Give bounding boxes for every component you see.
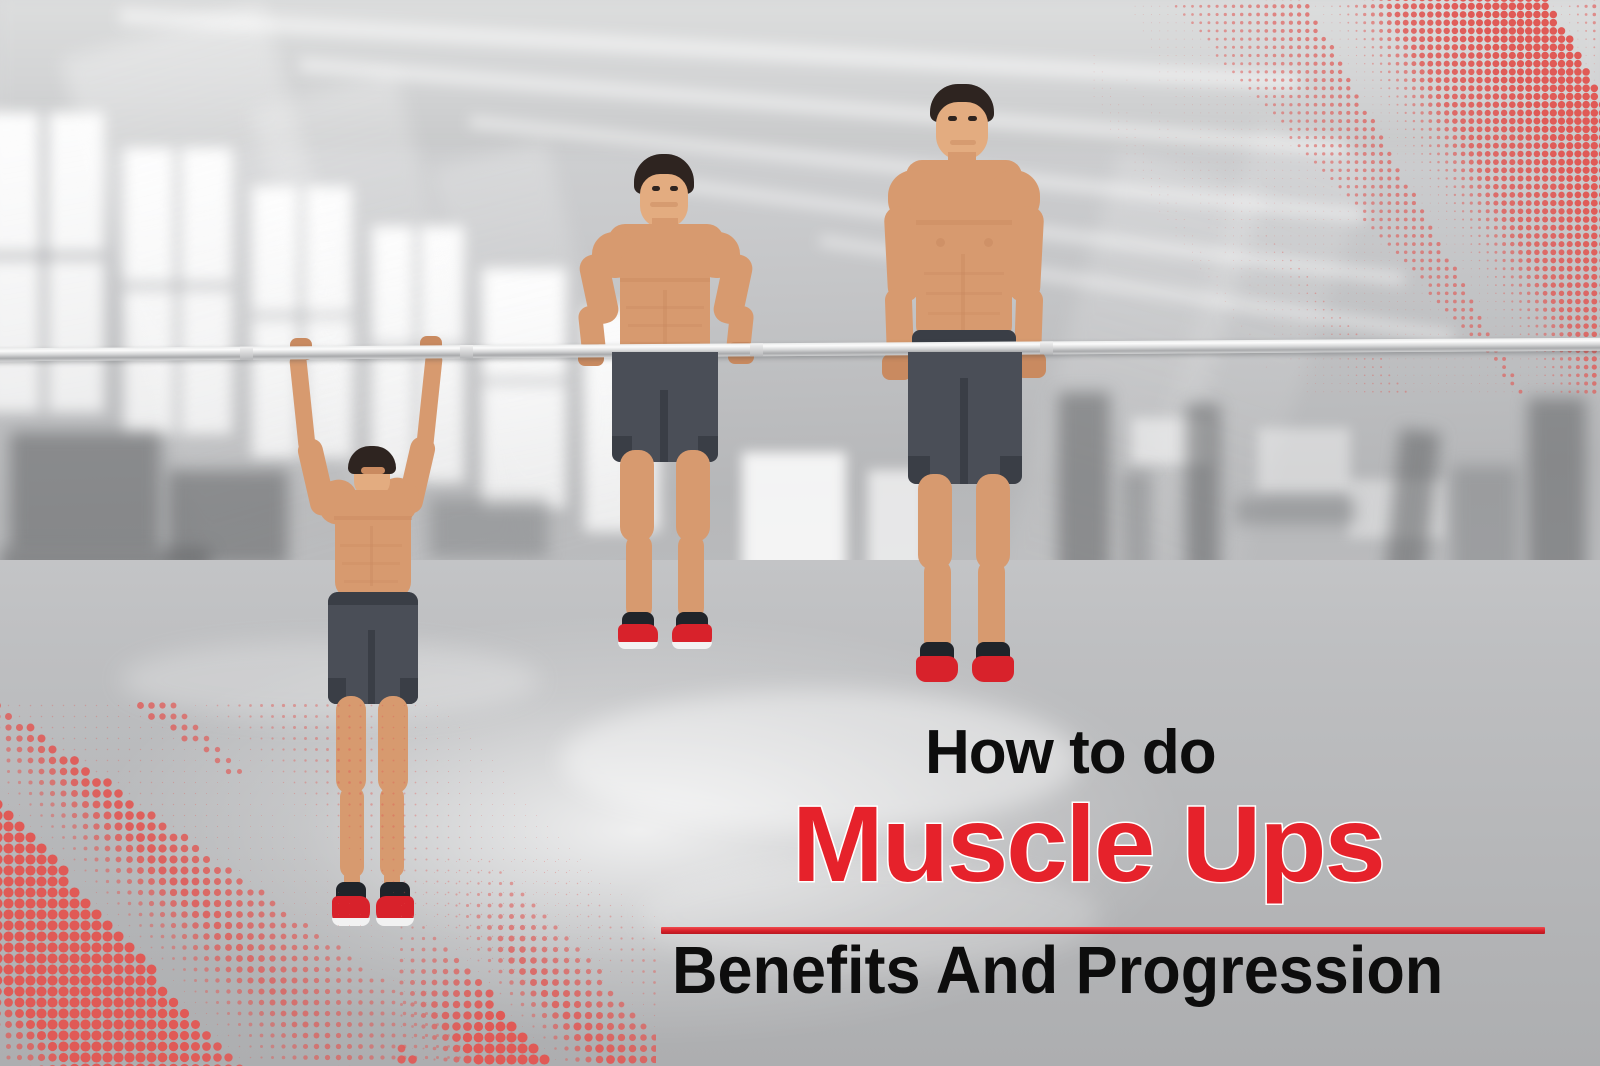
far-window: [1258, 428, 1350, 492]
page-title: Muscle Ups: [792, 790, 1384, 898]
athlete-2-transition: [578, 150, 798, 650]
subtitle-text: Benefits And Progression: [672, 937, 1443, 1004]
gym-equipment: [10, 432, 160, 552]
eyebrow-text: How to do: [925, 722, 1216, 784]
gym-equipment: [1236, 498, 1356, 524]
athlete-3-support: [872, 82, 1102, 672]
bar-occlusion-shorts-3: [908, 352, 1022, 376]
bar-occlusion-shorts-2: [612, 352, 718, 374]
halftone-dots-top-right: [1090, 0, 1600, 394]
halftone-dots-bottom-center: [396, 856, 656, 1066]
banner-canvas: How to do Muscle Ups Benefits And Progre…: [0, 0, 1600, 1066]
